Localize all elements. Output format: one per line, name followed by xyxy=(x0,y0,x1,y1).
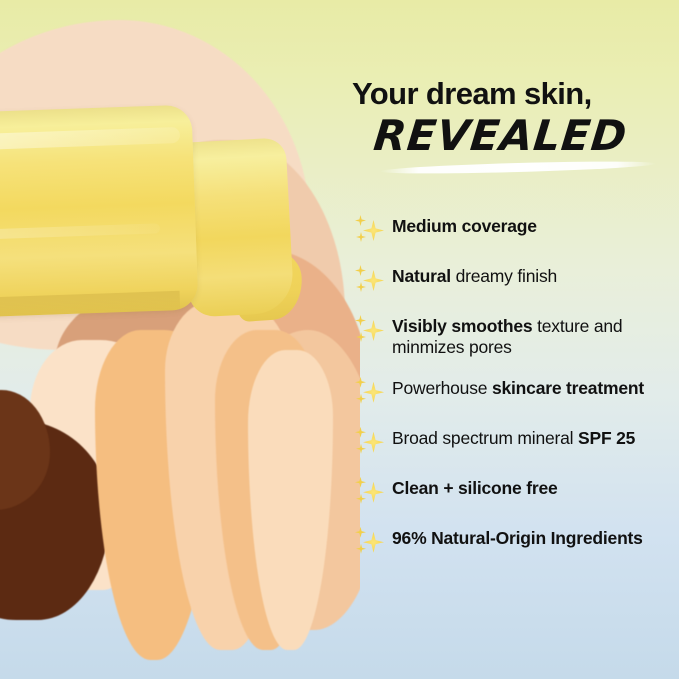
feature-text-regular: Broad spectrum mineral xyxy=(392,428,578,448)
feature-text-regular: dreamy finish xyxy=(451,266,557,286)
feature-text-bold: Clean + silicone free xyxy=(392,478,558,498)
tube-cap xyxy=(180,137,294,317)
product-artwork xyxy=(0,0,360,679)
list-item: Clean + silicone free xyxy=(352,476,679,509)
copy-column: Your dream skin, REVEALED Medium coverag… xyxy=(352,0,679,679)
headline-line-2: REVEALED xyxy=(350,115,629,157)
list-item: Natural dreamy finish xyxy=(352,264,679,297)
feature-text: Powerhouse skincare treatment xyxy=(392,376,644,399)
brush-underline xyxy=(380,159,656,176)
feature-list: Medium coverage Natural dreamy finish Vi… xyxy=(352,214,679,576)
feature-text-bold: Natural xyxy=(392,266,451,286)
sparkle-icon xyxy=(352,377,388,409)
sparkle-icon xyxy=(352,477,388,509)
list-item: Powerhouse skincare treatment xyxy=(352,376,679,409)
sparkle-icon xyxy=(352,427,388,459)
headline: Your dream skin, REVEALED xyxy=(352,78,679,171)
feature-text: Natural dreamy finish xyxy=(392,264,557,287)
feature-text-bold: Visibly smoothes xyxy=(392,316,532,336)
feature-text: Broad spectrum mineral SPF 25 xyxy=(392,426,635,449)
headline-line-2-wrapper: REVEALED xyxy=(352,115,679,171)
sparkle-icon xyxy=(352,315,388,347)
feature-text: Medium coverage xyxy=(392,214,537,237)
feature-text: Clean + silicone free xyxy=(392,476,558,499)
sparkle-icon xyxy=(352,215,388,247)
feature-text-regular: Powerhouse xyxy=(392,378,492,398)
sparkle-icon xyxy=(352,527,388,559)
list-item: Broad spectrum mineral SPF 25 xyxy=(352,426,679,459)
feature-text-bold: skincare treatment xyxy=(492,378,644,398)
sparkle-icon xyxy=(352,265,388,297)
list-item: Medium coverage xyxy=(352,214,679,247)
list-item: 96% Natural-Origin Ingredients xyxy=(352,526,679,559)
list-item: Visibly smoothes texture and minmizes po… xyxy=(352,314,679,359)
headline-line-1: Your dream skin, xyxy=(352,78,679,111)
feature-text-bold: SPF 25 xyxy=(578,428,635,448)
product-feature-image: Your dream skin, REVEALED Medium coverag… xyxy=(0,0,679,679)
feature-text: 96% Natural-Origin Ingredients xyxy=(392,526,643,549)
feature-text: Visibly smoothes texture and minmizes po… xyxy=(392,314,679,359)
feature-text-bold: 96% Natural-Origin Ingredients xyxy=(392,528,643,548)
feature-text-bold: Medium coverage xyxy=(392,216,537,236)
